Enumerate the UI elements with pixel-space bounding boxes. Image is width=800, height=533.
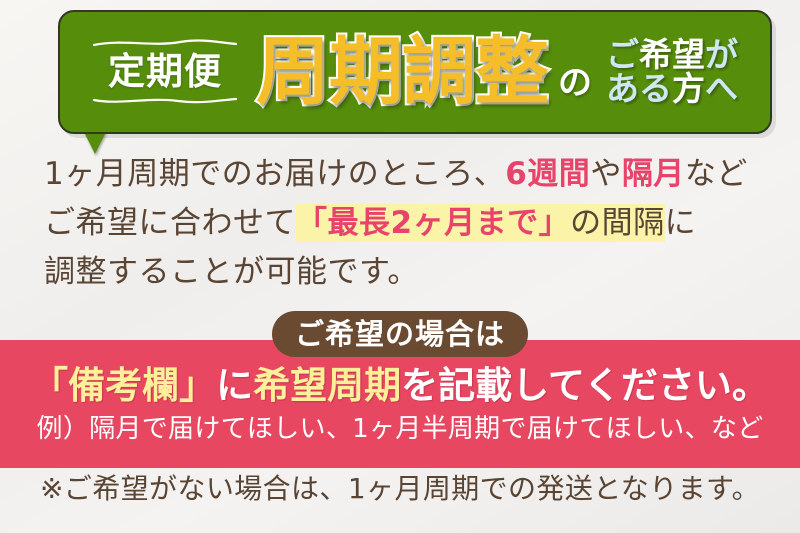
description-paragraph: 1ヶ月周期でのお届けのところ、6週間や隔月など ご希望に合わせて「最長2ヶ月まで…	[44, 150, 774, 297]
header-banner: 定期便 周期調整 の ご希望が ある方へ	[58, 10, 772, 134]
description-line-3-text-a: 調整することが可能です。	[44, 254, 419, 290]
pink-notice-band: 「備考欄」に希望周期を記載してください。 例）隔月で届けてほしい、1ヶ月半周期で…	[0, 340, 800, 468]
pink-notice-desired-cycle: 希望周期	[253, 364, 401, 407]
pink-notice-line1-text-d: を記載してください。	[401, 364, 769, 407]
header-subtitle-line1-seg1: ご	[606, 35, 639, 74]
description-highlight-6weeks: 6週間	[505, 156, 590, 192]
pink-notice-example-line: 例）隔月で届けてほしい、1ヶ月半周期で届けてほしい、など	[0, 415, 800, 444]
wave-line-bottom-icon	[92, 96, 238, 105]
header-subtitle-line2-seg2: 方	[672, 69, 705, 108]
request-case-pill: ご希望の場合は	[272, 311, 528, 357]
subscription-badge: 定期便	[90, 39, 240, 105]
description-line-2-text-a: ご希望に合わせて	[44, 205, 296, 241]
header-green-box: 定期便 周期調整 の ご希望が ある方へ	[58, 10, 772, 134]
description-line-3: 調整することが可能です。	[44, 248, 774, 297]
subscription-badge-label: 定期便	[90, 53, 240, 90]
pink-notice-content: 「備考欄」に希望周期を記載してください。 例）隔月で届けてほしい、1ヶ月半周期で…	[0, 340, 800, 468]
description-line-2: ご希望に合わせて「最長2ヶ月まで」の間隔に	[44, 199, 774, 248]
description-line-2-text-c: の間隔	[570, 204, 665, 242]
description-line-1: 1ヶ月周期でのお届けのところ、6週間や隔月など	[44, 150, 774, 199]
pink-notice-line1-text-b: に	[216, 364, 253, 407]
header-title: 周期調整	[256, 35, 548, 109]
promo-banner: 定期便 周期調整 の ご希望が ある方へ 1ヶ月周期でのお届けのところ、6週間や…	[0, 0, 800, 533]
footnote-text: ※ご希望がない場合は、1ヶ月周期での発送となります。	[0, 472, 800, 506]
header-subtitle: ご希望が ある方へ	[606, 38, 738, 107]
description-line-1-text-a: 1ヶ月周期でのお届けのところ、	[44, 156, 505, 192]
header-subtitle-line1-seg3: が	[705, 35, 738, 74]
header-subtitle-line1-seg2: 希望	[639, 35, 705, 74]
description-highlight-maxtwomonths: 「最長2ヶ月まで」	[296, 204, 570, 242]
header-subtitle-line2-seg3: へ	[705, 69, 738, 108]
header-title-particle: の	[558, 66, 592, 100]
wave-line-top-icon	[92, 39, 238, 48]
header-subtitle-line2: ある方へ	[606, 72, 738, 106]
header-subtitle-line1: ご希望が	[606, 38, 738, 72]
description-line-1-text-c: や	[590, 156, 622, 192]
description-highlight-everyothermonth: 隔月	[622, 156, 685, 192]
description-line-1-text-e: など	[685, 156, 748, 192]
pink-notice-remarks-field: 「備考欄」	[31, 364, 216, 407]
description-line-2-text-d: に	[665, 205, 697, 241]
header-subtitle-line2-seg1: ある	[606, 69, 672, 108]
pink-notice-line1: 「備考欄」に希望周期を記載してください。	[0, 366, 800, 406]
